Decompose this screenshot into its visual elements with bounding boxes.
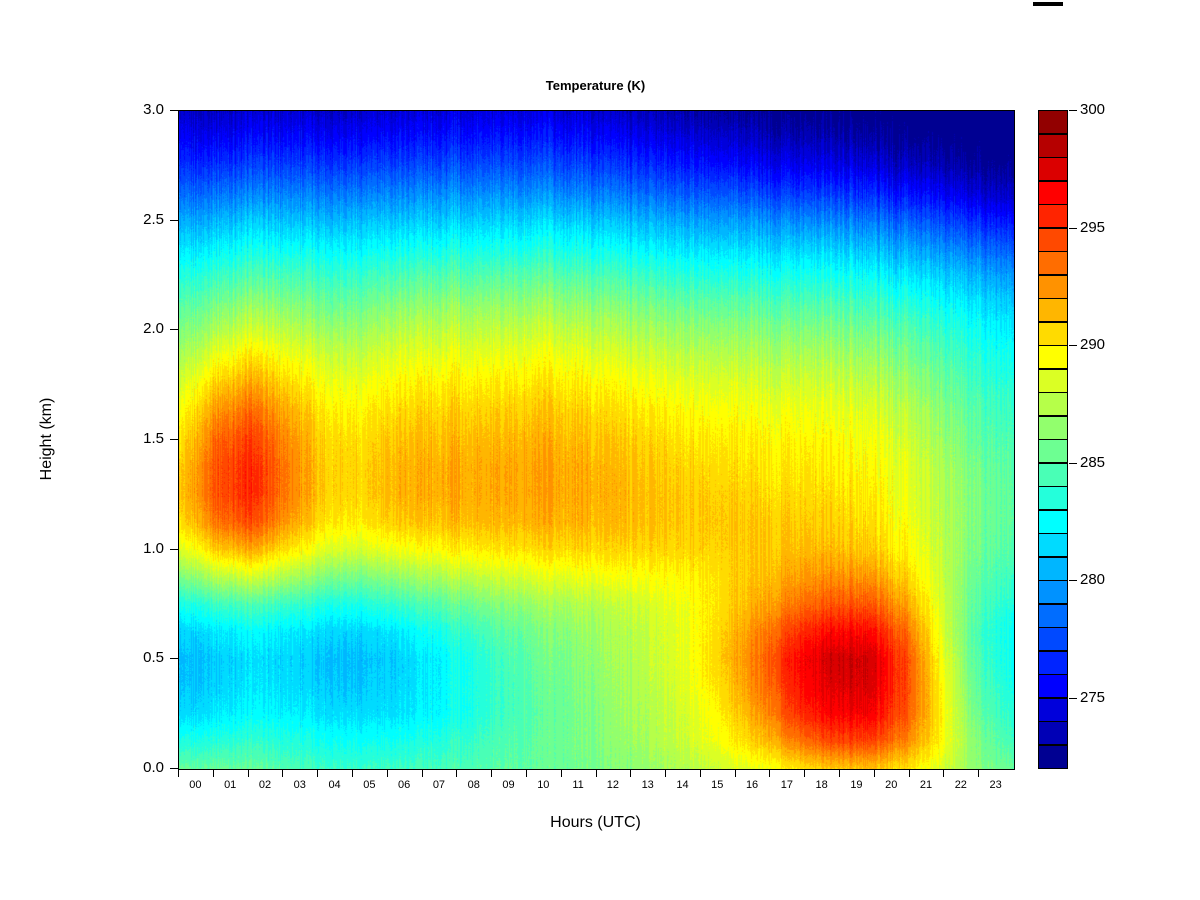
colorbar-block <box>1038 439 1068 463</box>
y-axis-tick-label: 2.5 <box>120 212 164 227</box>
colorbar-block <box>1038 110 1068 134</box>
x-axis-tick <box>317 769 318 777</box>
y-axis-tick-label: 0.0 <box>120 760 164 775</box>
colorbar-tick <box>1069 463 1077 464</box>
y-axis-tick-label: 1.5 <box>120 431 164 446</box>
x-axis-tick <box>248 769 249 777</box>
x-axis-tick <box>596 769 597 777</box>
colorbar-block <box>1038 674 1068 698</box>
colorbar-block <box>1038 275 1068 299</box>
y-axis-tick <box>170 768 178 769</box>
y-axis-tick <box>170 549 178 550</box>
x-axis-tick <box>839 769 840 777</box>
page-title: Temperature (K) <box>178 78 1013 93</box>
y-axis-tick-label-wrap: 0.5 <box>112 650 164 666</box>
colorbar-block <box>1038 157 1068 181</box>
colorbar-block <box>1038 322 1068 346</box>
colorbar-block <box>1038 298 1068 322</box>
y-axis-tick-label: 0.5 <box>120 650 164 665</box>
colorbar-block <box>1038 416 1068 440</box>
colorbar-block <box>1038 463 1068 487</box>
colorbar-tick-label: 290 <box>1080 337 1105 352</box>
colorbar-tick-label: 285 <box>1080 455 1105 470</box>
y-axis-tick <box>170 658 178 659</box>
colorbar-block <box>1038 533 1068 557</box>
y-axis-tick-label-wrap: 1.5 <box>112 431 164 447</box>
colorbar-tick <box>1069 110 1077 111</box>
x-axis-tick <box>526 769 527 777</box>
colorbar-block <box>1038 580 1068 604</box>
colorbar-block <box>1038 181 1068 205</box>
y-axis-tick <box>170 439 178 440</box>
colorbar-tick <box>1069 698 1077 699</box>
x-axis-tick <box>909 769 910 777</box>
colorbar-block <box>1038 698 1068 722</box>
x-axis-tick <box>352 769 353 777</box>
x-axis-tick-label: 23 <box>976 780 1016 791</box>
x-axis-tick <box>769 769 770 777</box>
x-axis-tick <box>700 769 701 777</box>
colorbar-tick-label: 275 <box>1080 690 1105 705</box>
chart-page: Temperature (K) 0.00.51.01.52.02.53.0 00… <box>0 0 1200 900</box>
x-axis-tick <box>561 769 562 777</box>
colorbar-block <box>1038 369 1068 393</box>
x-axis-tick <box>874 769 875 777</box>
colorbar-tick-label: 280 <box>1080 572 1105 587</box>
x-axis-tick <box>804 769 805 777</box>
y-axis-tick <box>170 329 178 330</box>
colorbar-block <box>1038 228 1068 252</box>
y-axis-title: Height (km) <box>38 359 56 519</box>
y-axis-tick-label-wrap: 0.0 <box>112 760 164 776</box>
x-axis-tick <box>387 769 388 777</box>
x-axis-tick <box>422 769 423 777</box>
colorbar-tick-label: 300 <box>1080 102 1105 117</box>
colorbar-block <box>1038 651 1068 675</box>
x-axis-tick <box>178 769 179 777</box>
x-axis-tick <box>978 769 979 777</box>
y-axis-tick-label: 1.0 <box>120 541 164 556</box>
y-axis-tick-label-wrap: 2.0 <box>112 321 164 337</box>
x-axis-tick <box>943 769 944 777</box>
colorbar-block <box>1038 251 1068 275</box>
colorbar-tick <box>1069 345 1077 346</box>
colorbar-block <box>1038 627 1068 651</box>
y-axis-tick <box>170 220 178 221</box>
colorbar-block <box>1038 392 1068 416</box>
heatmap-plot-area <box>178 110 1015 770</box>
x-axis-title: Hours (UTC) <box>178 814 1013 832</box>
colorbar <box>1038 110 1068 768</box>
colorbar-block <box>1038 486 1068 510</box>
corner-mark <box>1033 2 1063 6</box>
x-axis-tick <box>213 769 214 777</box>
colorbar-block <box>1038 604 1068 628</box>
y-axis-tick-label-wrap: 3.0 <box>112 102 164 118</box>
x-axis-tick <box>282 769 283 777</box>
y-axis-tick <box>170 110 178 111</box>
colorbar-block <box>1038 134 1068 158</box>
x-axis-tick <box>735 769 736 777</box>
colorbar-block <box>1038 745 1068 769</box>
colorbar-block <box>1038 345 1068 369</box>
colorbar-block <box>1038 510 1068 534</box>
x-axis-tick <box>491 769 492 777</box>
y-axis-tick-label-wrap: 1.0 <box>112 541 164 557</box>
x-axis-tick <box>665 769 666 777</box>
y-axis-tick-label: 2.0 <box>120 321 164 336</box>
colorbar-block <box>1038 557 1068 581</box>
colorbar-tick <box>1069 228 1077 229</box>
colorbar-block <box>1038 721 1068 745</box>
x-axis-tick <box>630 769 631 777</box>
colorbar-tick <box>1069 580 1077 581</box>
colorbar-tick-label: 295 <box>1080 220 1105 235</box>
heatmap-canvas <box>179 111 1014 769</box>
y-axis-tick-label-wrap: 2.5 <box>112 212 164 228</box>
colorbar-block <box>1038 204 1068 228</box>
x-axis-tick <box>456 769 457 777</box>
y-axis-tick-label: 3.0 <box>120 102 164 117</box>
